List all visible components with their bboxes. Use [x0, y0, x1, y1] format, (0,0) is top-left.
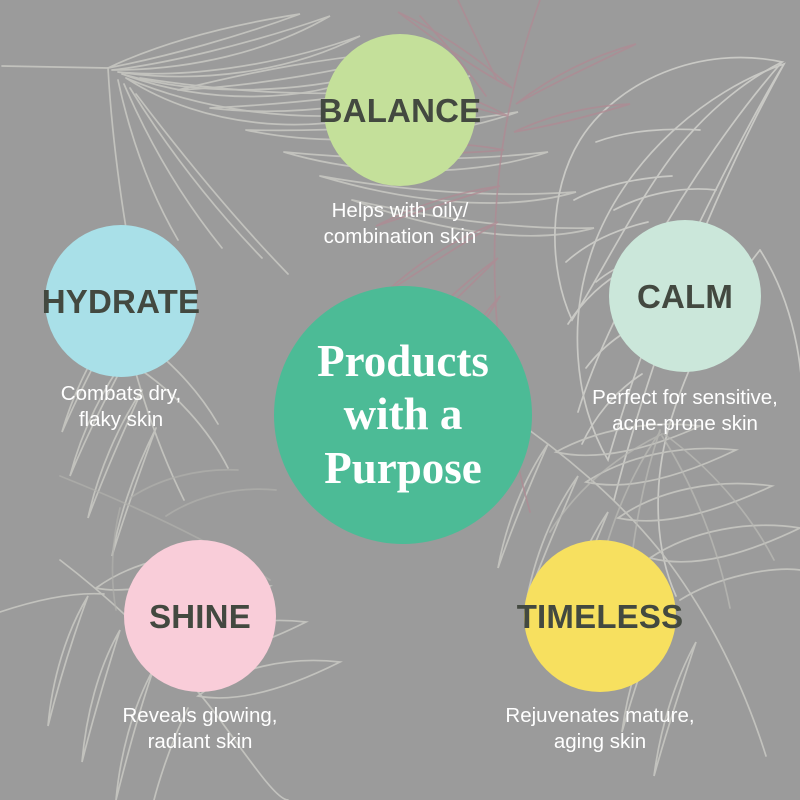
caption-hydrate-line-1: Combats dry,	[61, 381, 181, 407]
caption-balance: Helps with oily/ combination skin	[324, 198, 477, 250]
bubble-label-shine: SHINE	[149, 600, 251, 633]
caption-hydrate: Combats dry, flaky skin	[61, 381, 181, 433]
bubble-balance[interactable]: BALANCE	[324, 34, 476, 186]
center-title-line-2: with a	[317, 388, 489, 441]
caption-balance-line-2: combination skin	[324, 224, 477, 250]
center-title-line-1: Products	[317, 335, 489, 388]
caption-shine-line-2: radiant skin	[123, 729, 278, 755]
bubble-hydrate[interactable]: HYDRATE	[45, 225, 197, 377]
caption-calm-line-1: Perfect for sensitive,	[592, 385, 778, 411]
infographic-canvas: Products with a Purpose BALANCE Helps wi…	[0, 0, 800, 800]
center-bubble-products-with-a-purpose[interactable]: Products with a Purpose	[274, 286, 532, 544]
bubble-label-calm: CALM	[637, 280, 733, 313]
bubble-shine[interactable]: SHINE	[124, 540, 276, 692]
caption-shine-line-1: Reveals glowing,	[123, 703, 278, 729]
caption-balance-line-1: Helps with oily/	[324, 198, 477, 224]
center-title: Products with a Purpose	[303, 335, 503, 494]
caption-calm-line-2: acne-prone skin	[592, 411, 778, 437]
caption-timeless: Rejuvenates mature, aging skin	[505, 703, 694, 755]
bubble-label-timeless: TIMELESS	[517, 600, 684, 633]
bubble-label-hydrate: HYDRATE	[42, 285, 200, 318]
bubble-timeless[interactable]: TIMELESS	[524, 540, 676, 692]
bubble-label-balance: BALANCE	[319, 94, 482, 127]
caption-timeless-line-1: Rejuvenates mature,	[505, 703, 694, 729]
bubble-calm[interactable]: CALM	[609, 220, 761, 372]
caption-timeless-line-2: aging skin	[505, 729, 694, 755]
caption-hydrate-line-2: flaky skin	[61, 407, 181, 433]
center-title-line-3: Purpose	[317, 442, 489, 495]
caption-shine: Reveals glowing, radiant skin	[123, 703, 278, 755]
caption-calm: Perfect for sensitive, acne-prone skin	[592, 385, 778, 437]
